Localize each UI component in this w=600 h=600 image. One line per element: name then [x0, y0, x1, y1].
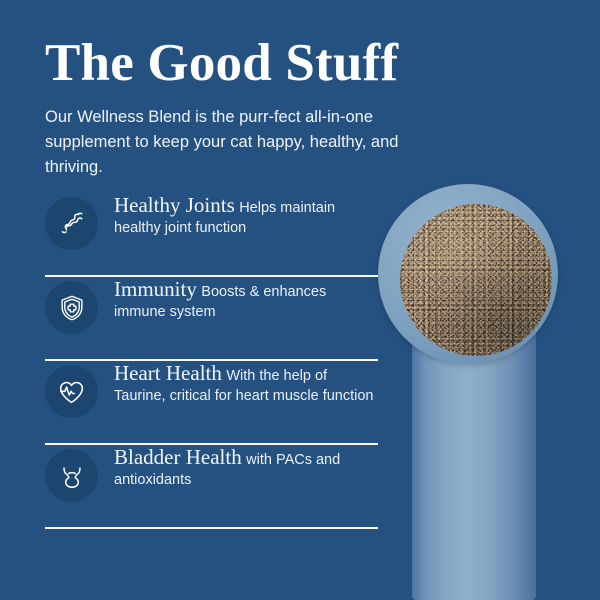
product-image	[370, 178, 600, 600]
page-title: The Good Stuff	[45, 36, 398, 90]
feature-divider	[45, 359, 378, 361]
feature-list: Healthy Joints Helps maintain healthy jo…	[45, 193, 380, 529]
feature-item-heart-health: Heart Health With the help of Taurine, c…	[45, 361, 380, 443]
feature-divider	[45, 275, 378, 277]
feature-title: Healthy Joints	[114, 193, 235, 217]
feature-title: Bladder Health	[114, 445, 242, 469]
feature-divider	[45, 527, 378, 529]
joint-bone-icon	[45, 197, 98, 250]
container-rim	[378, 184, 558, 364]
feature-text: Healthy Joints Helps maintain healthy jo…	[114, 193, 380, 238]
feature-item-immunity: Immunity Boosts & enhances immune system	[45, 277, 380, 359]
feature-divider	[45, 443, 378, 445]
feature-item-healthy-joints: Healthy Joints Helps maintain healthy jo…	[45, 193, 380, 275]
powder-shading	[400, 204, 552, 356]
feature-text: Heart Health With the help of Taurine, c…	[114, 361, 380, 406]
shield-cross-icon	[45, 281, 98, 334]
heart-pulse-icon	[45, 365, 98, 418]
feature-title: Immunity	[114, 277, 197, 301]
feature-title: Heart Health	[114, 361, 222, 385]
feature-item-bladder-health: Bladder Health with PACs and antioxidant…	[45, 445, 380, 527]
bladder-icon	[45, 449, 98, 502]
powder-fill	[400, 204, 552, 356]
feature-text: Bladder Health with PACs and antioxidant…	[114, 445, 380, 490]
feature-text: Immunity Boosts & enhances immune system	[114, 277, 380, 322]
intro-paragraph: Our Wellness Blend is the purr-fect all-…	[45, 105, 440, 180]
